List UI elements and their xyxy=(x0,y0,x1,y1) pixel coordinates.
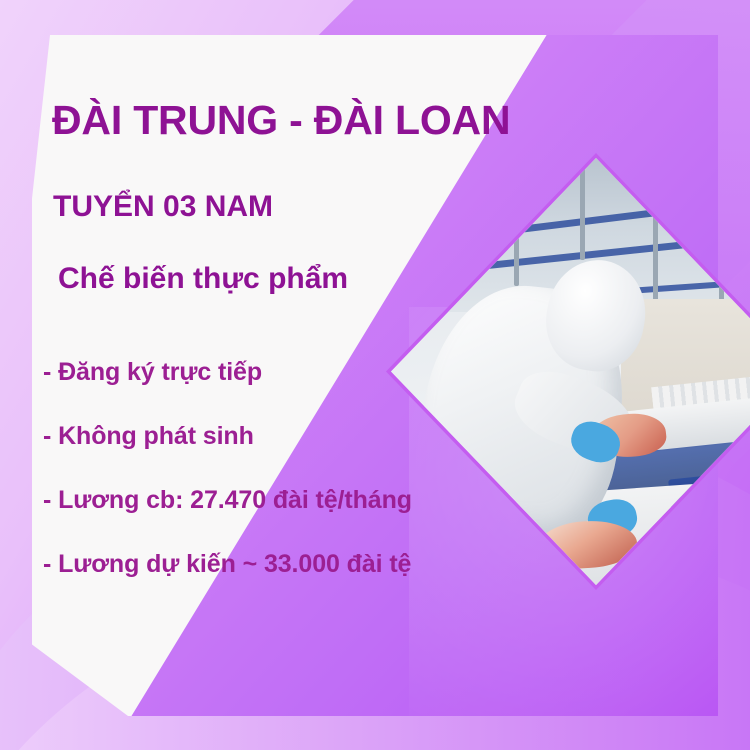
list-item: - Lương cb: 27.470 đài tệ/tháng xyxy=(43,486,563,515)
recruitment-poster: ĐÀI TRUNG - ĐÀI LOAN TUYỂN 03 NAM Chế bi… xyxy=(0,0,750,750)
poster-text-content: ĐÀI TRUNG - ĐÀI LOAN TUYỂN 03 NAM Chế bi… xyxy=(0,0,750,750)
list-item: - Không phát sinh xyxy=(43,422,563,451)
list-item: - Đăng ký trực tiếp xyxy=(43,358,563,387)
recruitment-headline: TUYỂN 03 NAM xyxy=(53,190,273,224)
list-item: - Lương dự kiến ~ 33.000 đài tệ xyxy=(43,550,563,579)
page-title: ĐÀI TRUNG - ĐÀI LOAN xyxy=(52,97,510,144)
job-category: Chế biến thực phẩm xyxy=(58,262,348,296)
detail-list: - Đăng ký trực tiếp - Không phát sinh - … xyxy=(43,358,563,614)
